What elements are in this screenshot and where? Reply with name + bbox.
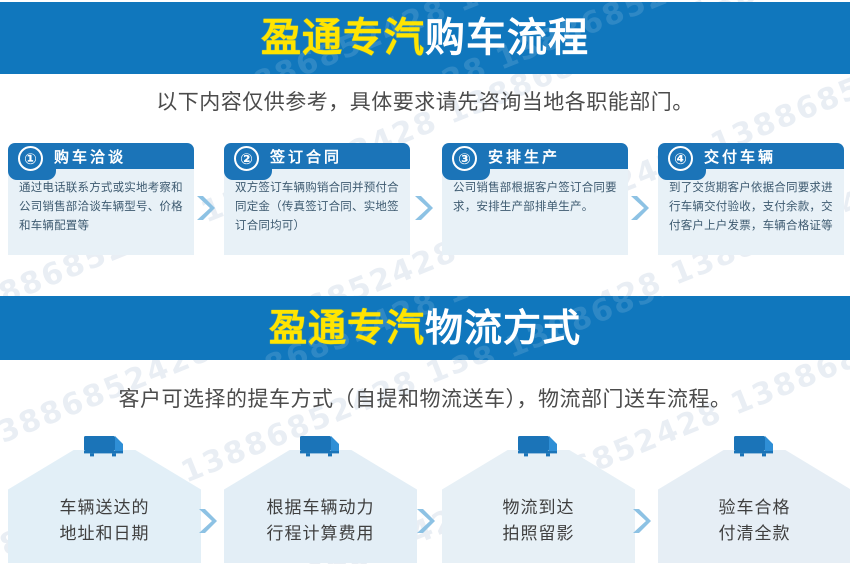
- chevron-right-icon: [196, 506, 218, 536]
- banner2-brand: 盈通专汽: [269, 306, 425, 350]
- logistics-line-1: 验车合格: [658, 496, 850, 522]
- logistics-card-1: 车辆送达的 地址和日期: [8, 450, 201, 563]
- truck-icon: [81, 432, 129, 460]
- truck-icon: [515, 432, 563, 460]
- banner2-heading: 物流方式: [425, 306, 581, 350]
- step-card-2: ② 签订合同 双方签订车辆购销合同并预付合同定金（传真签订合同、实地签订合同均可…: [224, 143, 410, 255]
- infographic-page: 13886852428 13886852428 13886852428 1388…: [0, 0, 850, 564]
- chevron-right-icon: [414, 506, 436, 536]
- banner1-title: 盈通专汽购车流程: [0, 18, 850, 58]
- step-card-4: ④ 交付车辆 到了交货期客户依据合同要求进行车辆交付验收，支付余款，交付客户上户…: [658, 143, 844, 255]
- purchase-steps-row: ① 购车洽谈 通过电话联系方式或实地考察和公司销售部洽谈车辆型号、价格和车辆配置…: [0, 143, 850, 255]
- step-title: 签订合同: [270, 143, 342, 169]
- truck-icon: [297, 432, 345, 460]
- step-number-badge: ③: [452, 146, 477, 171]
- step-title: 交付车辆: [704, 143, 776, 169]
- section2-subtitle: 客户可选择的提车方式（自提和物流送车），物流部门送车流程。: [0, 383, 850, 413]
- logistics-line-2: 拍照留影: [442, 522, 635, 548]
- logistics-line-1: 车辆送达的: [8, 496, 201, 522]
- banner-purchase-process: 13886852428 13886852428 13886852428 1388…: [0, 2, 850, 74]
- step-body-text: 公司销售部根据客户签订合同要求，安排生产部排单生产。: [442, 169, 628, 255]
- truck-icon: [731, 432, 779, 460]
- logistics-line-2: 行程计算费用: [224, 522, 417, 548]
- logistics-card-4: 验车合格 付清全款: [658, 450, 850, 563]
- section1-subtitle: 以下内容仅供参考，具体要求请先咨询当地各职能部门。: [0, 86, 850, 116]
- step-card-1: ① 购车洽谈 通过电话联系方式或实地考察和公司销售部洽谈车辆型号、价格和车辆配置…: [8, 143, 194, 255]
- banner2-title: 盈通专汽物流方式: [0, 309, 850, 347]
- logistics-card-3: 物流到达 拍照留影: [442, 450, 635, 563]
- step-body-text: 双方签订车辆购销合同并预付合同定金（传真签订合同、实地签订合同均可）: [224, 169, 410, 255]
- logistics-steps-row: 车辆送达的 地址和日期 根据车辆动力 行程计算费用: [0, 434, 850, 564]
- step-body-text: 到了交货期客户依据合同要求进行车辆交付验收，支付余款，交付客户上户发票，车辆合格…: [658, 169, 844, 255]
- banner1-brand: 盈通专汽: [261, 15, 425, 61]
- logistics-card-2: 根据车辆动力 行程计算费用: [224, 450, 417, 563]
- step-title: 购车洽谈: [54, 143, 126, 169]
- banner-logistics-method: 13886852428 13886852428 13886852428 1388…: [0, 296, 850, 360]
- step-title: 安排生产: [488, 143, 560, 169]
- logistics-line-1: 根据车辆动力: [224, 496, 417, 522]
- chevron-right-icon: [412, 193, 434, 223]
- step-number-badge: ④: [668, 146, 693, 171]
- logistics-card-text: 物流到达 拍照留影: [442, 496, 635, 547]
- logistics-line-2: 地址和日期: [8, 522, 201, 548]
- chevron-right-icon: [628, 193, 650, 223]
- chevron-right-icon: [630, 506, 652, 536]
- logistics-card-text: 验车合格 付清全款: [658, 496, 850, 547]
- logistics-line-2: 付清全款: [658, 522, 850, 548]
- step-body-text: 通过电话联系方式或实地考察和公司销售部洽谈车辆型号、价格和车辆配置等: [8, 169, 194, 255]
- step-number-badge: ②: [234, 146, 259, 171]
- step-card-3: ③ 安排生产 公司销售部根据客户签订合同要求，安排生产部排单生产。: [442, 143, 628, 255]
- logistics-card-text: 根据车辆动力 行程计算费用: [224, 496, 417, 547]
- logistics-line-1: 物流到达: [442, 496, 635, 522]
- banner1-heading: 购车流程: [425, 15, 589, 61]
- logistics-card-text: 车辆送达的 地址和日期: [8, 496, 201, 547]
- step-number-badge: ①: [18, 146, 43, 171]
- chevron-right-icon: [194, 193, 216, 223]
